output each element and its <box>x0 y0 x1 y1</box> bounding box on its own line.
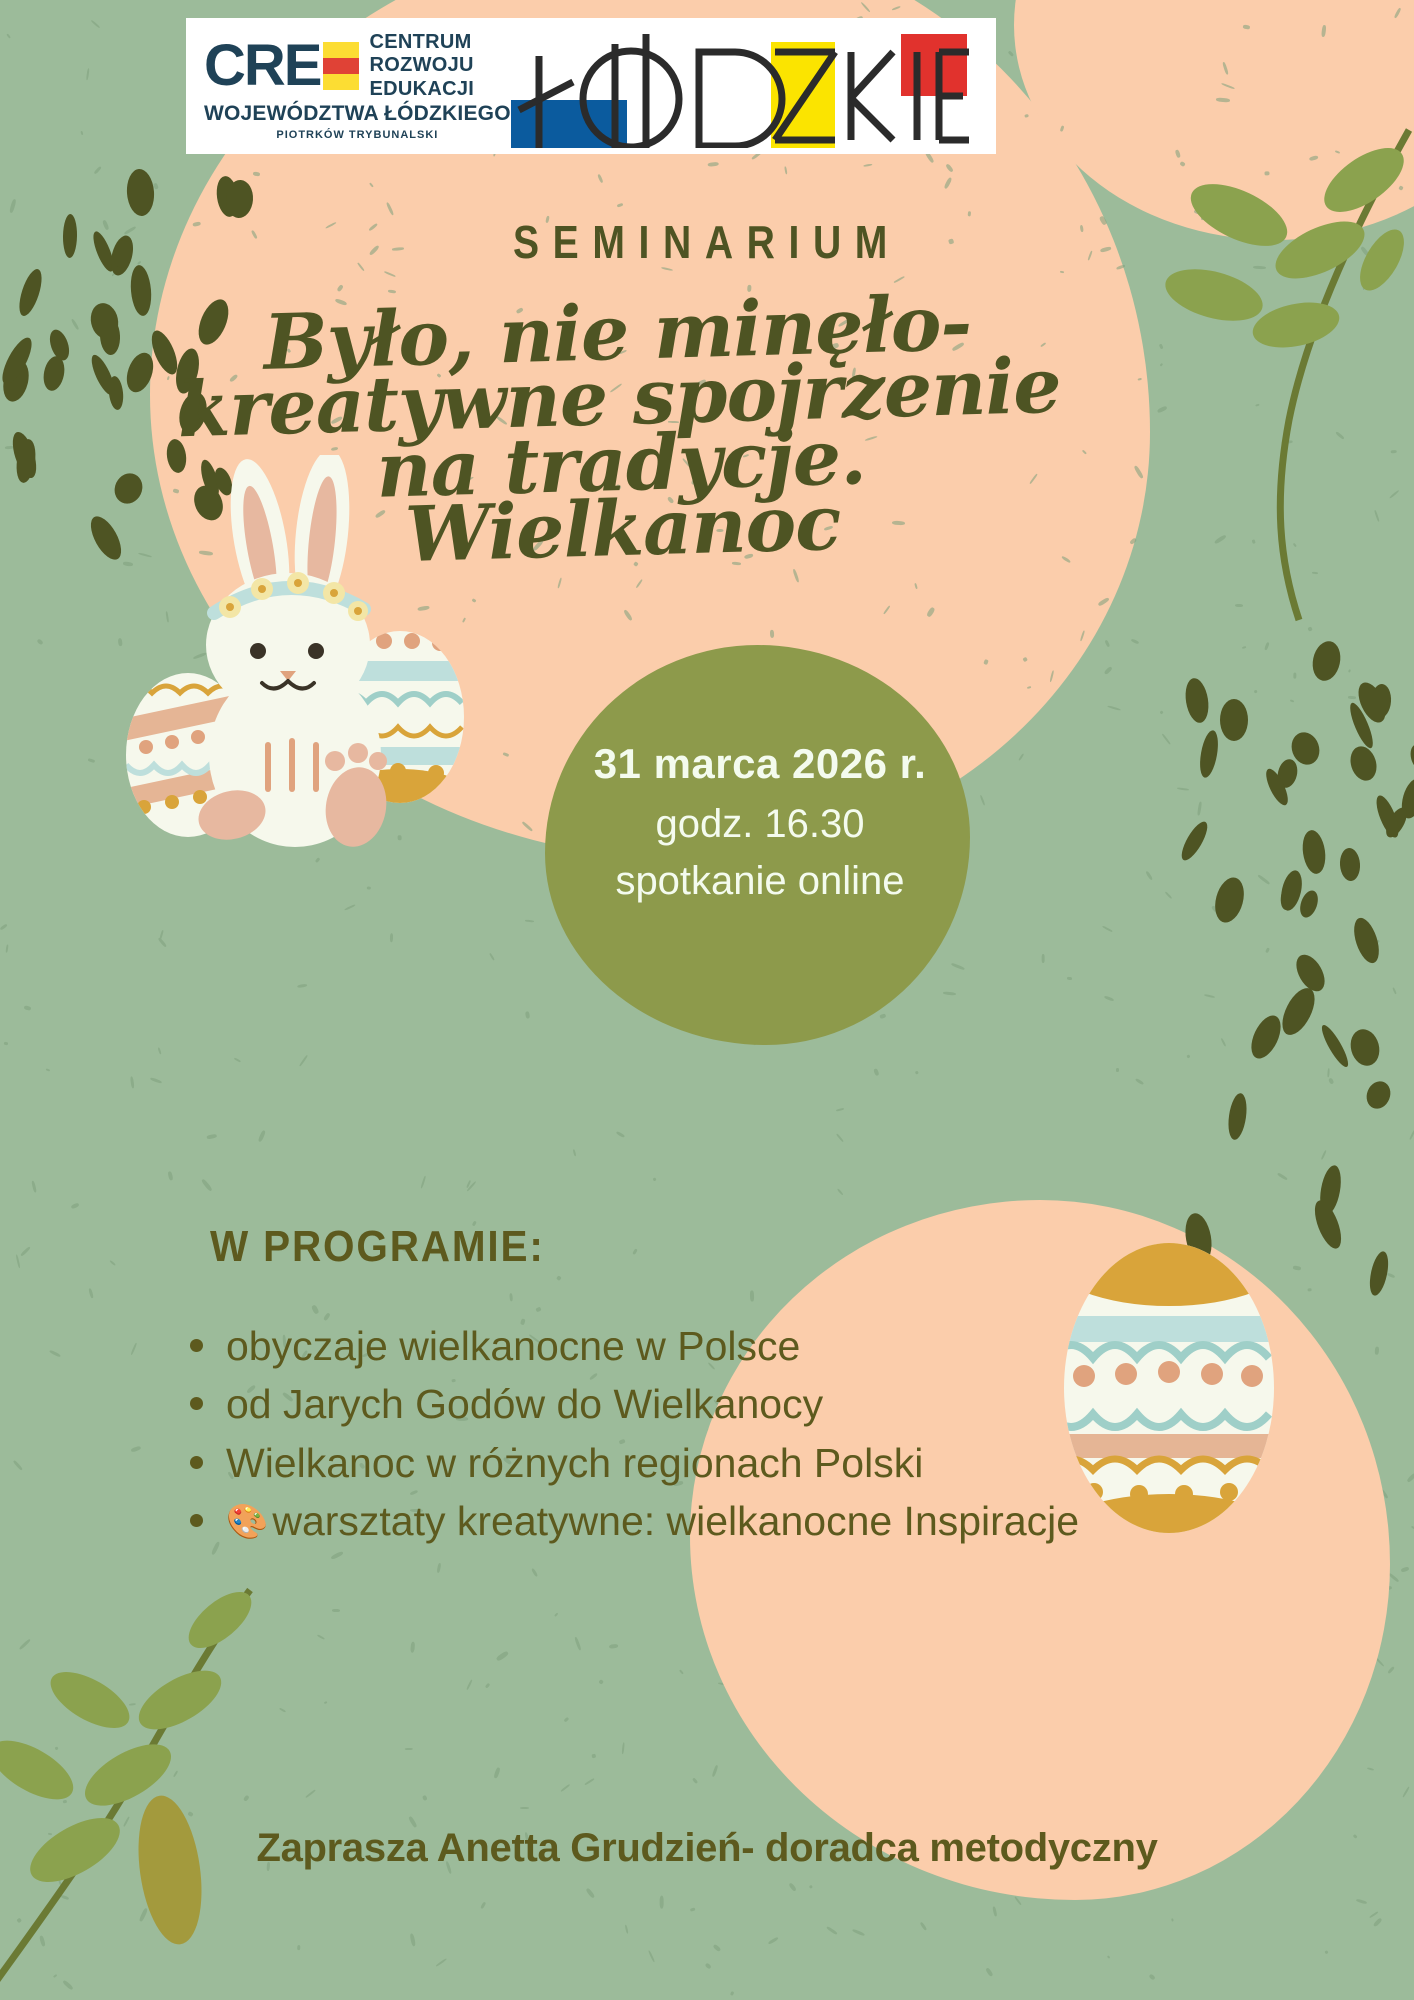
page-kicker: SEMINARIUM <box>106 215 1308 269</box>
cre-logo: CRE CENTRUM ROZWOJU EDUKACJI WOJEWÓDZTWA… <box>186 18 511 154</box>
bunny-and-eggs-illustration <box>110 455 530 875</box>
lodzkie-logo <box>511 18 996 154</box>
branch-bottom-left <box>0 1520 360 2000</box>
program-list-item: od Jarych Godów do Wielkanocy <box>180 1378 1240 1430</box>
bunny <box>193 455 392 852</box>
dash-cluster-right <box>1184 640 1414 1260</box>
program-item-label: obyczaje wielkanocne w Polsce <box>226 1323 800 1369</box>
program-list-item: 🎨warsztaty kreatywne: wielkanocne Inspir… <box>180 1495 1240 1547</box>
palette-icon: 🎨 <box>226 1503 268 1541</box>
cre-wordmark: CRE <box>204 38 320 93</box>
logo-bar: CRE CENTRUM ROZWOJU EDUKACJI WOJEWÓDZTWA… <box>186 18 996 154</box>
lodzkie-logo-icon <box>503 24 973 148</box>
cre-line-2: ROZWOJU <box>369 54 474 78</box>
program-heading: W PROGRAMIE: <box>210 1222 545 1272</box>
event-mode: spotkanie online <box>560 859 960 904</box>
poster-canvas: CRE CENTRUM ROZWOJU EDUKACJI WOJEWÓDZTWA… <box>0 0 1414 2000</box>
event-date: 31 marca 2026 r. <box>560 740 960 788</box>
program-list-item: obyczaje wielkanocne w Polsce <box>180 1320 1240 1372</box>
program-list: obyczaje wielkanocne w Polsceod Jarych G… <box>180 1320 1240 1554</box>
bullet-icon <box>190 1514 203 1527</box>
bullet-icon <box>190 1397 203 1410</box>
footer-presenter: Zaprasza Anetta Grudzień- doradca metody… <box>0 1826 1414 1871</box>
program-item-label: od Jarych Godów do Wielkanocy <box>226 1381 823 1427</box>
program-list-item: Wielkanoc w różnych regionach Polski <box>180 1437 1240 1489</box>
bullet-icon <box>190 1456 203 1469</box>
cre-flag-icon <box>323 42 359 90</box>
bullet-icon <box>190 1339 203 1352</box>
cre-city: PIOTRKÓW TRYBUNALSKI <box>204 129 511 141</box>
cre-subtitle: WOJEWÓDZTWA ŁÓDZKIEGO <box>204 102 511 126</box>
cre-line-1: CENTRUM <box>369 31 474 55</box>
program-item-label: warsztaty kreatywne: wielkanocne Inspira… <box>272 1498 1079 1544</box>
cre-fullname: CENTRUM ROZWOJU EDUKACJI <box>369 31 474 102</box>
branch-footer-leaf <box>100 1780 360 2000</box>
event-details: 31 marca 2026 r. godz. 16.30 spotkanie o… <box>560 740 960 904</box>
program-item-label: Wielkanoc w różnych regionach Polski <box>226 1440 923 1486</box>
cre-line-3: EDUKACJI <box>369 78 474 102</box>
event-time: godz. 16.30 <box>560 802 960 847</box>
